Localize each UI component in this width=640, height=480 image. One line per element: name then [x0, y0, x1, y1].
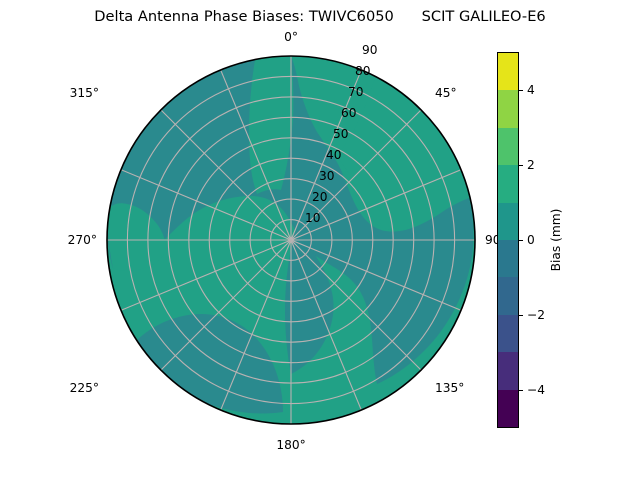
colorbar-tick-mark-m2: [519, 315, 523, 316]
polar-plot-svg: [105, 54, 477, 426]
colorbar-band-9: [498, 390, 518, 427]
polar-plot-axes: 0° 45° 90 135° 180° 225° 270° 315° 10 20…: [105, 54, 477, 426]
colorbar-tick-label-2: 2: [527, 158, 535, 172]
colorbar-tick-mark-2: [519, 165, 523, 166]
radial-tick-80: 80: [355, 64, 371, 78]
radial-tick-90: 90: [362, 43, 378, 57]
angular-tick-0: 0°: [284, 30, 298, 44]
angular-tick-45: 45°: [435, 86, 457, 100]
colorbar: 4 2 0 −2 −4: [497, 52, 519, 428]
colorbar-band-2: [498, 128, 518, 165]
colorbar-tick-mark-m4: [519, 390, 523, 391]
radial-tick-10: 10: [305, 211, 321, 225]
radial-tick-70: 70: [348, 85, 364, 99]
colorbar-band-3: [498, 165, 518, 202]
chart-title: Delta Antenna Phase Biases: TWIVC6050 SC…: [0, 8, 640, 25]
radial-tick-40: 40: [326, 148, 342, 162]
figure-canvas: Delta Antenna Phase Biases: TWIVC6050 SC…: [0, 0, 640, 480]
radial-tick-20: 20: [312, 190, 328, 204]
radial-tick-60: 60: [341, 106, 357, 120]
colorbar-band-1: [498, 90, 518, 127]
polar-angular-gridlines: [107, 56, 475, 424]
angular-tick-135: 135°: [435, 381, 464, 395]
angular-tick-315: 315°: [70, 86, 99, 100]
colorbar-band-7: [498, 315, 518, 352]
angular-tick-180: 180°: [276, 438, 305, 452]
colorbar-band-4: [498, 203, 518, 240]
colorbar-gradient: [497, 52, 519, 428]
colorbar-tick-mark-4: [519, 90, 523, 91]
colorbar-tick-label-0: 0: [527, 233, 535, 247]
colorbar-tick-mark-0: [519, 240, 523, 241]
radial-tick-50: 50: [333, 127, 349, 141]
colorbar-axis-label: Bias (mm): [549, 209, 563, 272]
radial-tick-30: 30: [319, 169, 335, 183]
colorbar-band-8: [498, 352, 518, 389]
angular-tick-270: 270°: [68, 233, 97, 247]
colorbar-band-6: [498, 277, 518, 314]
colorbar-tick-label-m4: −4: [527, 383, 545, 397]
angular-tick-225: 225°: [70, 381, 99, 395]
colorbar-tick-label-4: 4: [527, 83, 535, 97]
colorbar-tick-label-m2: −2: [527, 308, 545, 322]
colorbar-band-5: [498, 240, 518, 277]
colorbar-band-0: [498, 53, 518, 90]
